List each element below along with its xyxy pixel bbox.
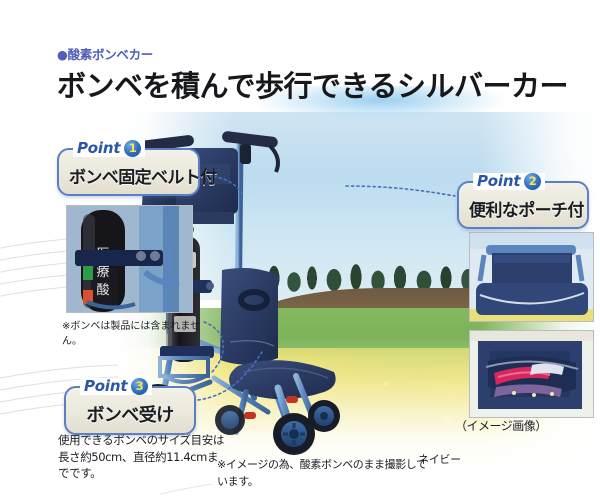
inset-pouch-photo [469,232,594,322]
point-2-header: Point 2 [473,173,545,190]
point-1-header: Point 1 [73,140,145,157]
cylinder-size-text: 使用できるボンベのサイズ目安は長さ約50cm、直径約11.4cmまでです。 [58,432,228,482]
point-3-word: Point [84,379,127,394]
inset-pouch-open-photo [469,330,594,418]
point-3-shell: Point 3 ボンベ受け [64,386,196,435]
point-2-badge: 2 [524,173,541,190]
svg-text:療: 療 [96,265,109,280]
image-note-text: （イメージ画像） [455,418,547,435]
point-callout-3[interactable]: Point 3 ボンベ受け [64,386,196,435]
point-callout-2[interactable]: Point 2 便利なポーチ付 [457,181,589,229]
point-2-shell: Point 2 便利なポーチ付 [457,181,589,229]
eyebrow-label: ●酸素ボンベカー [57,44,153,63]
point-1-label: ボンベ固定ベルト付 [69,163,188,188]
svg-text:酸: 酸 [96,283,109,298]
header: ●酸素ボンベカー ボンベを積んで歩行できるシルバーカー [0,0,600,112]
point-1-shell: Point 1 ボンベ固定ベルト付 [57,148,200,196]
point-3-header: Point 3 [80,378,152,395]
page-title: ボンベを積んで歩行できるシルバーカー [57,63,568,105]
point-2-label: 便利なポーチ付 [469,196,577,221]
point-2-word: Point [477,174,520,189]
point-callout-1[interactable]: Point 1 ボンベ固定ベルト付 [57,148,200,196]
photo-disclaimer-text: ※イメージの為、酸素ボンベのまま撮影しています。 [217,457,427,490]
point-1-word: Point [77,141,120,156]
inset-belt-photo: 医 療 酸 [66,205,193,313]
point-3-label: ボンベ受け [76,401,184,427]
point-3-badge: 3 [131,378,148,395]
point-1-badge: 1 [124,140,141,157]
belt-disclaimer-text: ※ボンベは製品には含まれません。 [62,320,212,349]
